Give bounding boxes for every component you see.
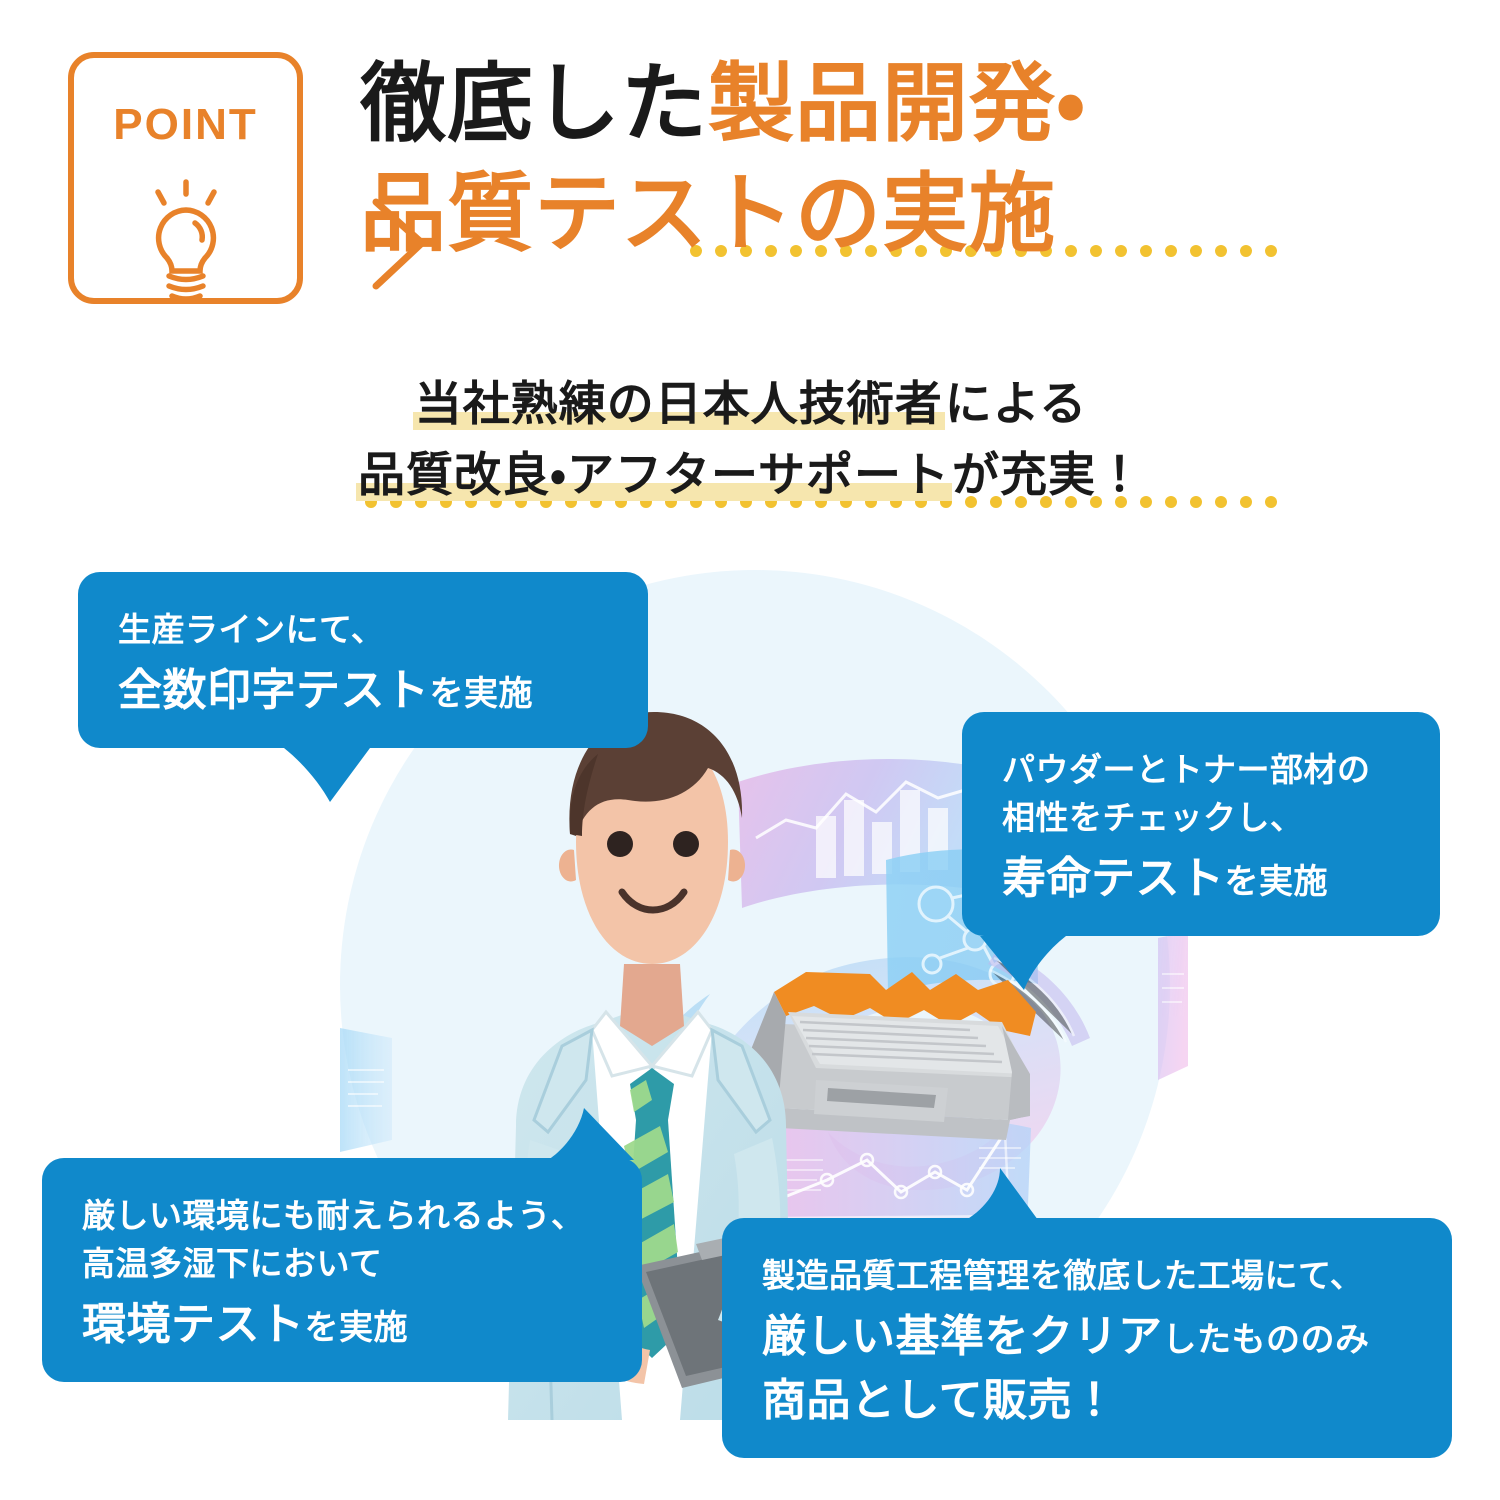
bubble-2-tail [976,936,1068,997]
point-badge-label: POINT [74,100,297,150]
bubble-4-line-2: 厳しい基準をクリアしたもののみ [762,1300,1418,1364]
bubble-2-line-2: 相性をチェックし、 [1002,794,1406,842]
bubble-3-content: 厳しい環境にも耐えられるよう、 高温多湿下において 環境テストを実施 [42,1158,642,1382]
bubble-3-line-3: 環境テストを実施 [82,1288,608,1352]
headline-line-2: 品質テストの実施 [360,158,1320,268]
subtitle-plain-2: が充実！ [952,448,1144,501]
lightbulb-icon [131,176,241,309]
headline-orange-text-2: 品質テストの実施 [360,166,1056,262]
subtitle-highlight-1: 当社熟練の日本人技術者 [413,377,945,430]
bubble-2-line-3: 寿命テストを実施 [1002,842,1406,906]
bubble-1-content: 生産ラインにて、 全数印字テストを実施 [78,572,648,748]
subtitle-line-2: 品質改良・アフターサポートが充実！ [0,439,1500,510]
subtitle: 当社熟練の日本人技術者による 品質改良・アフターサポートが充実！ [0,368,1500,511]
bubble-environment-test: 厳しい環境にも耐えられるよう、 高温多湿下において 環境テストを実施 [42,1158,642,1382]
bubble-3-line-2: 高温多湿下において [82,1240,608,1288]
bubble-factory-quality-standard: 製造品質工程管理を徹底した工場にて、 厳しい基準をクリアしたもののみ 商品として… [722,1218,1452,1458]
eye-right [673,831,699,857]
bubble-1-emphasis: 全数印字テスト [118,666,430,715]
bubble-2-content: パウダーとトナー部材の 相性をチェックし、 寿命テストを実施 [962,712,1440,936]
subtitle-line-1: 当社熟練の日本人技術者による [0,368,1500,439]
bubble-3-tail [540,1106,636,1167]
infographic-canvas: POINT 徹底した製品開発・ [0,0,1500,1500]
hologram-panel-left [340,1028,392,1152]
bubble-4-line-3: 商品として販売！ [762,1364,1418,1428]
bubble-3-suffix: を実施 [305,1309,409,1347]
subtitle-highlight-2: 品質改良・アフターサポート [356,448,952,501]
bubble-1-line-1: 生産ラインにて、 [118,606,614,654]
headline-black-text: 徹底した [360,56,708,152]
subtitle-plain-1: による [945,377,1088,430]
headline: 徹底した製品開発・ 品質テストの実施 [360,48,1320,268]
bubble-4-line-1: 製造品質工程管理を徹底した工場にて、 [762,1252,1418,1300]
hologram-panel-right [1158,932,1188,1080]
bubble-3-line-1: 厳しい環境にも耐えられるよう、 [82,1192,608,1240]
bubble-1-tail [284,748,374,809]
bubble-4-mid: したもののみ [1163,1321,1370,1359]
bubble-2-emphasis: 寿命テスト [1002,854,1225,903]
bubble-3-emphasis: 環境テスト [82,1300,305,1349]
bubble-1-line-2: 全数印字テストを実施 [118,654,614,718]
headline-line-1: 徹底した製品開発・ [360,48,1320,158]
bubble-4-emphasis-1: 厳しい基準をクリア [762,1312,1163,1361]
point-badge: POINT [68,52,303,304]
headline-orange-text-1: 製品開発・ [708,56,1086,152]
bubble-4-content: 製造品質工程管理を徹底した工場にて、 厳しい基準をクリアしたもののみ 商品として… [722,1218,1452,1458]
eye-left [607,831,633,857]
bubble-4-emphasis-2: 商品として販売！ [762,1376,1117,1425]
bubble-4-tail [960,1168,1052,1227]
bubble-powder-toner-life-test: パウダーとトナー部材の 相性をチェックし、 寿命テストを実施 [962,712,1440,936]
bubble-1-suffix: を実施 [430,675,534,713]
bubble-production-line-print-test: 生産ラインにて、 全数印字テストを実施 [78,572,648,748]
bubble-2-line-1: パウダーとトナー部材の [1002,746,1406,794]
bubble-2-suffix: を実施 [1225,863,1329,901]
